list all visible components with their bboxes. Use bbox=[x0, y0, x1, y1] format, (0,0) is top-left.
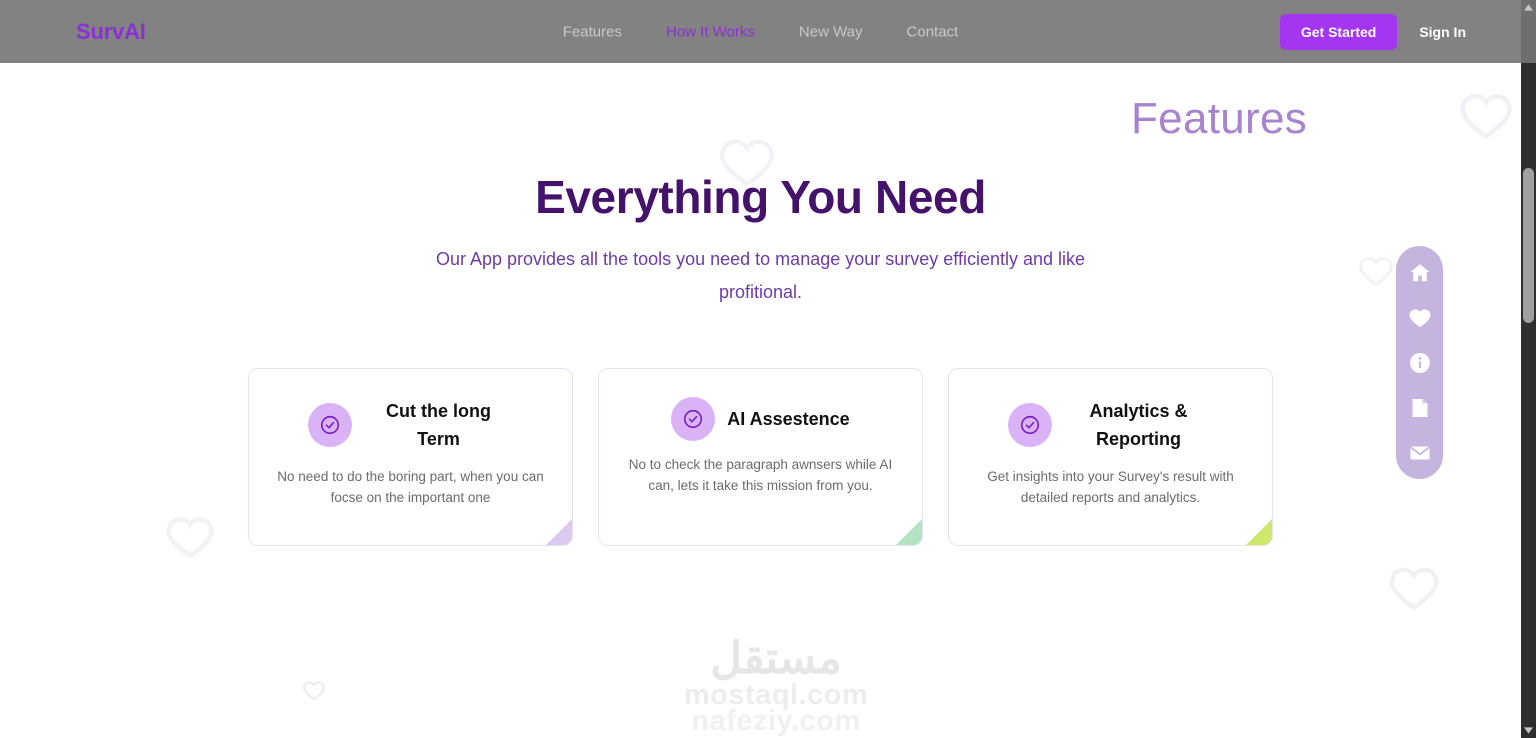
document-icon bbox=[1408, 396, 1432, 420]
watermark-line-1: mostaql.com bbox=[676, 682, 876, 708]
heart-decoration-icon bbox=[1457, 88, 1515, 143]
nav-item-contact[interactable]: Contact bbox=[907, 23, 959, 40]
feature-card-title: Cut the long Term bbox=[364, 397, 514, 453]
feature-card-description: Get insights into your Survey's result w… bbox=[975, 466, 1246, 508]
floating-dock bbox=[1396, 246, 1443, 479]
sign-in-link[interactable]: Sign In bbox=[1419, 24, 1466, 40]
mail-icon bbox=[1408, 441, 1432, 465]
check-circle-icon bbox=[1008, 403, 1052, 447]
get-started-button[interactable]: Get Started bbox=[1280, 14, 1397, 50]
check-circle-icon bbox=[671, 397, 715, 441]
dock-item-info[interactable] bbox=[1407, 350, 1433, 376]
feature-card-description: No need to do the boring part, when you … bbox=[275, 466, 546, 508]
card-corner-accent bbox=[546, 519, 572, 545]
feature-card-description: No to check the paragraph awnsers while … bbox=[625, 454, 896, 496]
watermark: مستقل mostaql.com nafeziy.com bbox=[676, 636, 876, 734]
dock-item-mail[interactable] bbox=[1407, 440, 1433, 466]
main-navigation: Features How It Works New Way Contact bbox=[563, 23, 958, 40]
nav-item-new-way[interactable]: New Way bbox=[799, 23, 863, 40]
brand-logo[interactable]: SurvAI bbox=[76, 19, 146, 45]
heart-icon bbox=[1408, 306, 1432, 330]
feature-card-title: AI Assestence bbox=[727, 405, 849, 433]
heart-decoration-icon bbox=[1386, 562, 1442, 614]
heart-decoration-icon bbox=[163, 512, 217, 562]
page-root: SurvAI Features How It Works New Way Con… bbox=[0, 0, 1536, 738]
vertical-scrollbar[interactable] bbox=[1521, 0, 1536, 738]
card-corner-accent bbox=[896, 519, 922, 545]
nav-item-features[interactable]: Features bbox=[563, 23, 622, 40]
feature-card-list: Cut the long Term No need to do the bori… bbox=[248, 368, 1273, 546]
top-navbar: SurvAI Features How It Works New Way Con… bbox=[0, 0, 1521, 63]
info-icon bbox=[1408, 351, 1432, 375]
card-corner-accent bbox=[1246, 519, 1272, 545]
feature-card[interactable]: Analytics & Reporting Get insights into … bbox=[948, 368, 1273, 546]
section-eyebrow: Features bbox=[1131, 94, 1307, 144]
feature-card-header: Cut the long Term bbox=[275, 397, 546, 453]
scrollbar-thumb[interactable] bbox=[1523, 168, 1534, 323]
heart-decoration-icon bbox=[1357, 253, 1395, 289]
watermark-arabic: مستقل bbox=[676, 636, 876, 682]
page-title: Everything You Need bbox=[0, 170, 1521, 224]
watermark-line-2: nafeziy.com bbox=[676, 708, 876, 734]
dock-item-favorites[interactable] bbox=[1407, 305, 1433, 331]
dock-item-home[interactable] bbox=[1407, 260, 1433, 286]
feature-card-header: AI Assestence bbox=[625, 397, 896, 441]
home-icon bbox=[1408, 261, 1432, 285]
check-circle-icon bbox=[308, 403, 352, 447]
feature-card-title: Analytics & Reporting bbox=[1064, 397, 1214, 453]
feature-card[interactable]: Cut the long Term No need to do the bori… bbox=[248, 368, 573, 546]
feature-card-header: Analytics & Reporting bbox=[975, 397, 1246, 453]
scrollbar-up-arrow[interactable] bbox=[1521, 0, 1536, 15]
scrollbar-down-arrow[interactable] bbox=[1521, 723, 1536, 738]
feature-card[interactable]: AI Assestence No to check the paragraph … bbox=[598, 368, 923, 546]
navbar-actions: Get Started Sign In bbox=[1280, 14, 1466, 50]
heart-decoration-icon bbox=[302, 679, 326, 702]
nav-item-how-it-works[interactable]: How It Works bbox=[666, 23, 755, 40]
dock-item-documents[interactable] bbox=[1407, 395, 1433, 421]
page-subtitle: Our App provides all the tools you need … bbox=[411, 243, 1111, 309]
